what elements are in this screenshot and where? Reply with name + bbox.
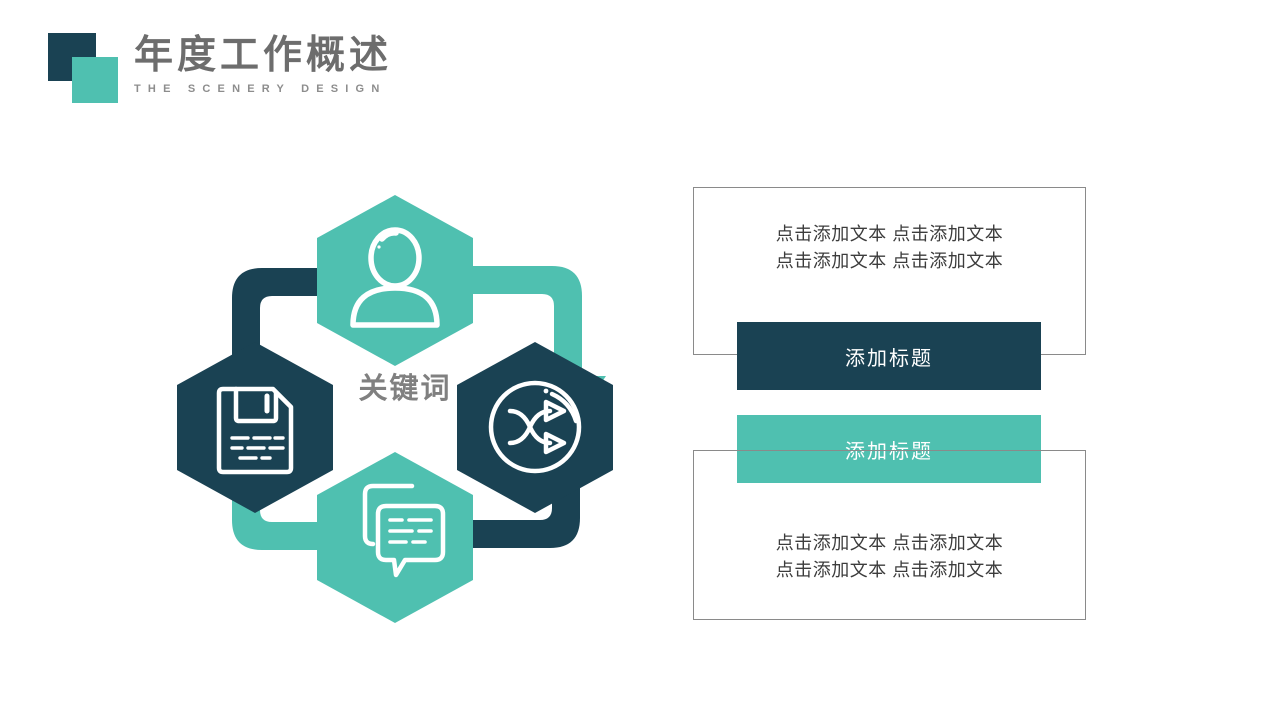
banner-dark-title[interactable]: 添加标题 (737, 322, 1041, 390)
bottom-box-text: 点击添加文本 点击添加文本 点击添加文本 点击添加文本 (693, 530, 1086, 584)
cycle-diagram-svg (160, 180, 650, 640)
logo-mark (48, 33, 140, 95)
page-title: 年度工作概述 (134, 33, 392, 79)
bottom-box-line-2: 点击添加文本 点击添加文本 (693, 557, 1086, 584)
top-box-line-2: 点击添加文本 点击添加文本 (693, 248, 1086, 275)
right-panel: 点击添加文本 点击添加文本 点击添加文本 点击添加文本 添加标题 添加标题 点击… (690, 180, 1100, 635)
title-block: 年度工作概述 THE SCENERY DESIGN (134, 33, 392, 97)
page-subtitle: THE SCENERY DESIGN (134, 81, 392, 97)
top-box-text: 点击添加文本 点击添加文本 点击添加文本 点击添加文本 (693, 221, 1086, 275)
hex-node-bottom[interactable] (317, 452, 473, 623)
hex-node-left[interactable] (177, 342, 333, 513)
slide-header: 年度工作概述 THE SCENERY DESIGN (0, 0, 1280, 130)
top-box-line-1: 点击添加文本 点击添加文本 (693, 221, 1086, 248)
banner-dark-label: 添加标题 (845, 342, 933, 371)
hex-node-top[interactable] (317, 195, 473, 366)
bottom-box-line-1: 点击添加文本 点击添加文本 (693, 530, 1086, 557)
cycle-diagram: 关键词 (160, 180, 650, 640)
hex-node-right[interactable] (457, 342, 613, 513)
logo-square-teal-icon (72, 57, 118, 103)
